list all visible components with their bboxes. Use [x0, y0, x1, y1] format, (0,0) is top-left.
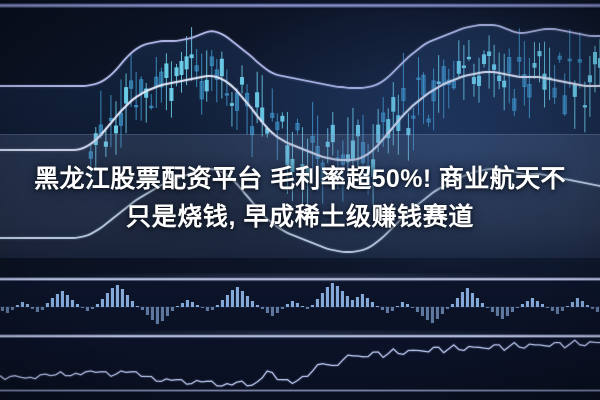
page-title-line-1: 黑龙江股票配资平台 毛利率超50%! 商业航天不 — [0, 160, 600, 198]
macd-histogram-series — [0, 283, 600, 324]
panel-separator-3 — [0, 389, 600, 392]
panel-separator-1 — [0, 277, 600, 281]
page-title: 黑龙江股票配资平台 毛利率超50%! 商业航天不 只是烧钱, 早成稀土级赚钱赛道 — [0, 160, 600, 236]
headline-scrim-edge — [0, 134, 600, 135]
page-title-line-2: 只是烧钱, 早成稀土级赚钱赛道 — [0, 198, 600, 236]
top-rail-shadow — [0, 8, 600, 11]
chart-screenshot: 黑龙江股票配资平台 毛利率超50%! 商业航天不 只是烧钱, 早成稀土级赚钱赛道 — [0, 0, 600, 400]
panel-separator-2 — [0, 334, 600, 338]
